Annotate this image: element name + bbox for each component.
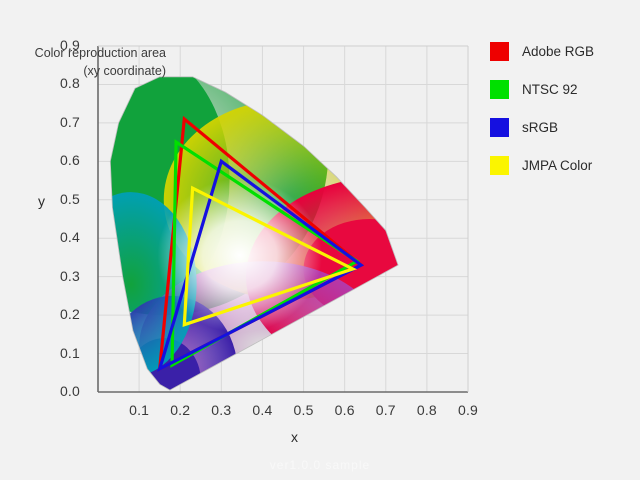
y-tick-label: 0.5 xyxy=(46,191,80,207)
x-tick-label: 0.7 xyxy=(369,402,403,418)
legend-label: sRGB xyxy=(522,120,558,135)
legend-label: NTSC 92 xyxy=(522,82,578,97)
legend-swatch xyxy=(490,118,509,137)
legend-swatch xyxy=(490,80,509,99)
x-axis-label: x xyxy=(291,429,298,445)
white-point-glow xyxy=(158,179,322,333)
legend-swatch xyxy=(490,42,509,61)
chromaticity-diagram: 0.00.10.20.30.40.50.60.70.80.9 0.10.20.3… xyxy=(0,0,640,480)
x-tick-label: 0.4 xyxy=(245,402,279,418)
plot-title-line1: Color reproduction area xyxy=(35,44,166,62)
legend-item-jmpa-color[interactable]: JMPA Color xyxy=(490,146,594,184)
x-tick-label: 0.2 xyxy=(163,402,197,418)
legend: Adobe RGBNTSC 92sRGBJMPA Color xyxy=(490,32,594,184)
legend-swatch xyxy=(490,156,509,175)
y-tick-label: 0.7 xyxy=(46,114,80,130)
y-tick-label: 0.3 xyxy=(46,268,80,284)
x-tick-label: 0.5 xyxy=(287,402,321,418)
y-tick-label: 0.0 xyxy=(46,383,80,399)
legend-label: Adobe RGB xyxy=(522,44,594,59)
legend-label: JMPA Color xyxy=(522,158,592,173)
x-tick-label: 0.6 xyxy=(328,402,362,418)
legend-item-adobe-rgb[interactable]: Adobe RGB xyxy=(490,32,594,70)
y-tick-label: 0.4 xyxy=(46,229,80,245)
x-tick-label: 0.1 xyxy=(122,402,156,418)
y-axis-label: y xyxy=(38,193,45,209)
legend-item-ntsc-92[interactable]: NTSC 92 xyxy=(490,70,594,108)
x-tick-label: 0.3 xyxy=(204,402,238,418)
plot-title: Color reproduction area (xy coordinate) xyxy=(35,44,166,80)
x-tick-label: 0.8 xyxy=(410,402,444,418)
y-tick-label: 0.2 xyxy=(46,306,80,322)
watermark: ver1.0.0 sample xyxy=(0,458,640,472)
x-tick-label: 0.9 xyxy=(451,402,485,418)
y-tick-label: 0.1 xyxy=(46,345,80,361)
legend-item-srgb[interactable]: sRGB xyxy=(490,108,594,146)
y-tick-label: 0.6 xyxy=(46,152,80,168)
plot-title-line2: (xy coordinate) xyxy=(35,62,166,80)
